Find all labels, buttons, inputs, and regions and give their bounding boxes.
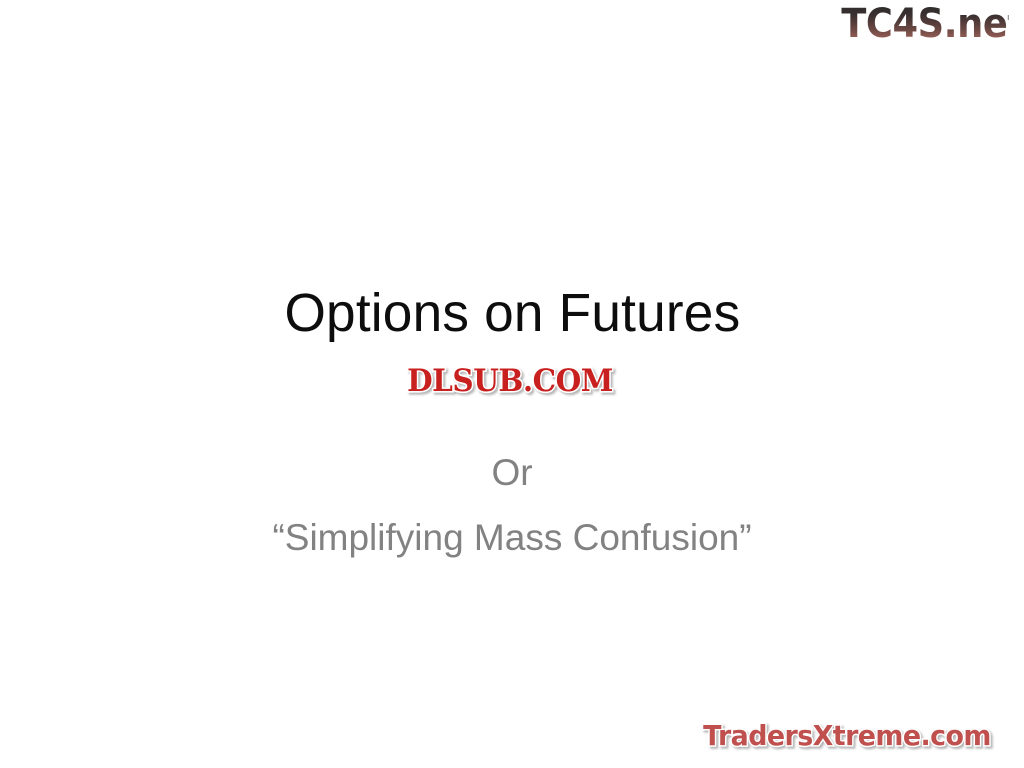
watermark-dlsub: DLSUB.COM bbox=[360, 361, 660, 401]
watermark-tc4s-text: TC4S.net bbox=[841, 2, 1008, 46]
watermark-dlsub-text: DLSUB.COM bbox=[368, 361, 653, 401]
watermark-tradersxtreme: TradersXtreme.com bbox=[678, 716, 1016, 756]
subtitle-line-quote: “Simplifying Mass Confusion” bbox=[0, 510, 1024, 565]
presentation-slide: TC4S.net Options on Futures DLSUB.COM Or… bbox=[0, 0, 1024, 768]
title-block: Options on Futures bbox=[0, 282, 1024, 344]
watermark-tradersxtreme-text: TradersXtreme.com bbox=[685, 716, 1009, 756]
subtitle-block: Or “Simplifying Mass Confusion” bbox=[0, 445, 1024, 565]
subtitle-line-or: Or bbox=[0, 445, 1024, 500]
watermark-tc4s: TC4S.net bbox=[834, 2, 1016, 46]
slide-title: Options on Futures bbox=[284, 282, 740, 344]
